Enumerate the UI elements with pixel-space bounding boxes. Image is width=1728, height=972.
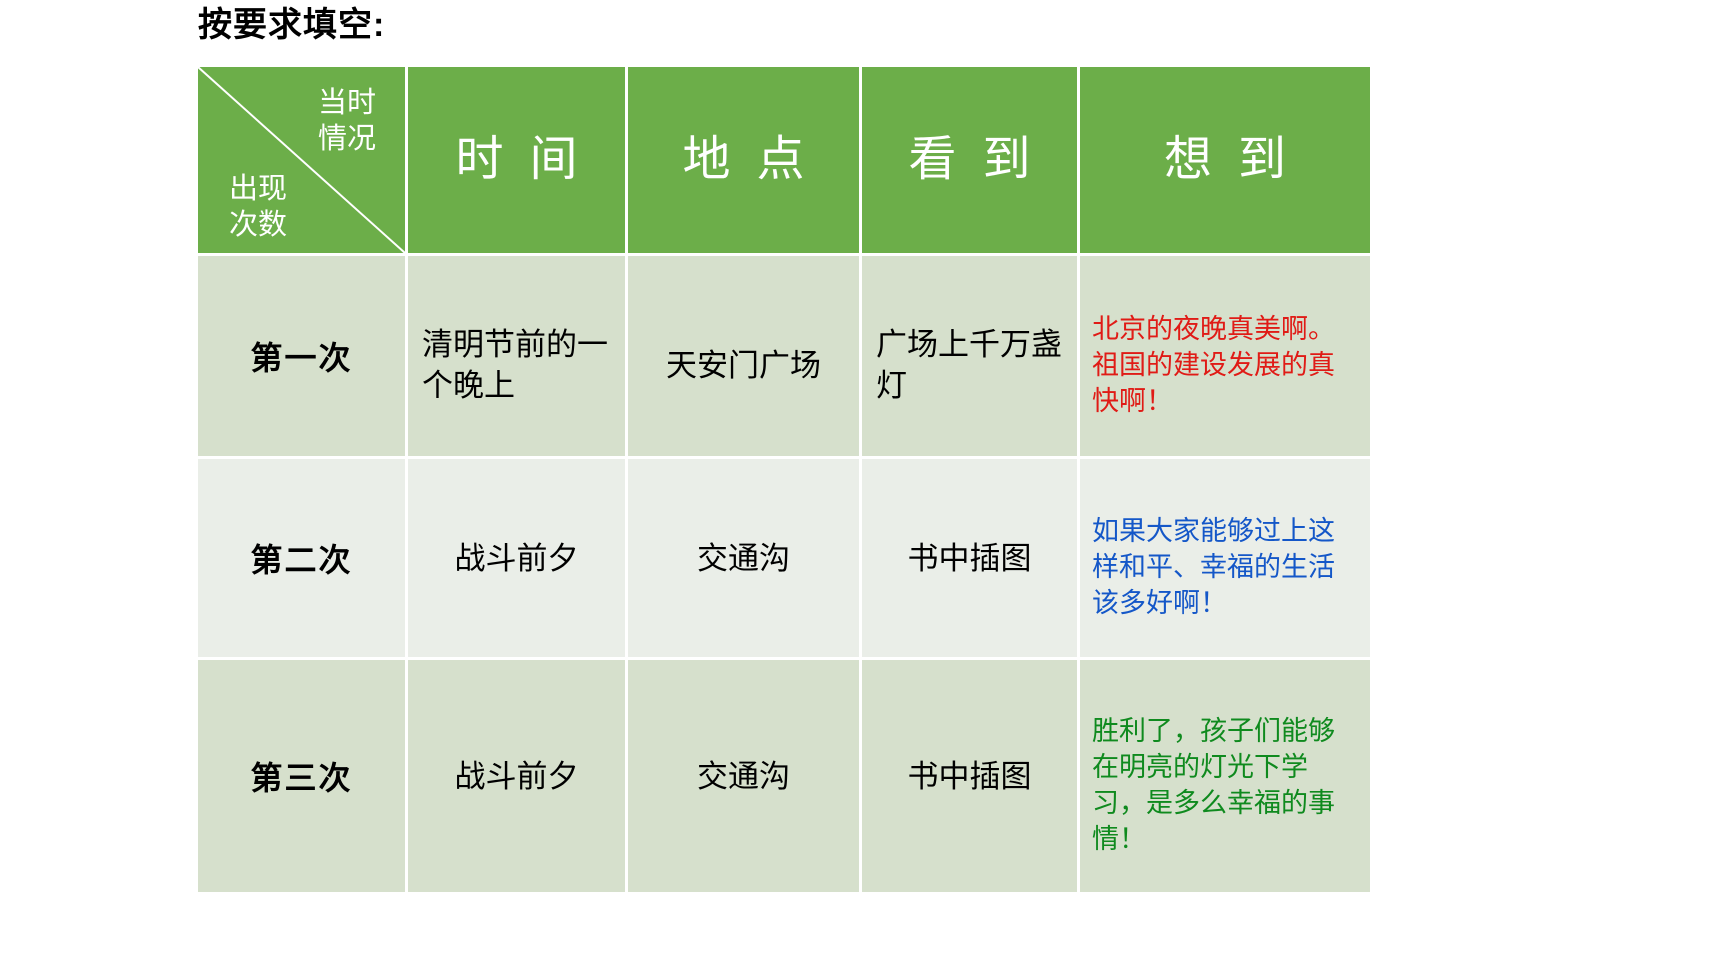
row-2-saw: 书中插图 <box>862 538 1077 579</box>
row-2-occurrence: 第二次 <box>198 459 408 660</box>
slide-canvas: 按要求填空: 当时 情况 出现 次数 <box>0 0 1728 972</box>
row-3-saw-cell: 书中插图 <box>862 660 1080 892</box>
corner-occurrence-line-2: 次数 <box>210 207 306 243</box>
row-2-time-cell: 战斗前夕 <box>408 459 628 660</box>
row-1-place-cell: 天安门广场 <box>628 256 862 459</box>
row-3-time-cell: 战斗前夕 <box>408 660 628 892</box>
header-label-thought: 想到 <box>1080 130 1370 190</box>
table-row: 第三次 战斗前夕 交通沟 书中插图 胜利了，孩子们能够在明亮的灯光下学习，是多么… <box>198 660 1370 892</box>
row-3-place: 交通沟 <box>628 756 859 797</box>
row-3-saw: 书中插图 <box>862 756 1077 797</box>
table-row: 第一次 清明节前的一个晚上 天安门广场 广场上千万盏灯 北京的夜晚真美啊。 祖国… <box>198 256 1370 459</box>
row-1-thought: 北京的夜晚真美啊。 祖国的建设发展的真快啊！ <box>1080 293 1370 419</box>
row-3-time: 战斗前夕 <box>408 756 625 797</box>
corner-occurrence-line-1: 出现 <box>210 171 306 207</box>
row-1-saw-cell: 广场上千万盏灯 <box>862 256 1080 459</box>
header-label-saw: 看到 <box>862 130 1077 190</box>
corner-label-occurrence: 出现 次数 <box>210 171 306 243</box>
header-label-place: 地点 <box>628 130 859 190</box>
row-1-saw: 广场上千万盏灯 <box>862 306 1077 406</box>
row-1-occurrence: 第一次 <box>198 256 408 459</box>
row-1-time: 清明节前的一个晚上 <box>408 306 625 406</box>
fill-in-table: 当时 情况 出现 次数 时间 地点 看到 想到 第一次 <box>198 67 1370 892</box>
row-3-occurrence: 第三次 <box>198 660 408 892</box>
header-cell-thought: 想到 <box>1080 67 1370 256</box>
header-cell-saw: 看到 <box>862 67 1080 256</box>
row-1-place: 天安门广场 <box>628 327 859 386</box>
header-label-time: 时间 <box>408 130 625 190</box>
header-corner-cell: 当时 情况 出现 次数 <box>198 67 408 256</box>
row-3-place-cell: 交通沟 <box>628 660 862 892</box>
table-row: 第二次 战斗前夕 交通沟 书中插图 如果大家能够过上这样和平、幸福的生活该多好啊… <box>198 459 1370 660</box>
row-1-thought-cell: 北京的夜晚真美啊。 祖国的建设发展的真快啊！ <box>1080 256 1370 459</box>
corner-label-situation: 当时 情况 <box>301 85 393 157</box>
row-2-saw-cell: 书中插图 <box>862 459 1080 660</box>
row-2-place-cell: 交通沟 <box>628 459 862 660</box>
corner-situation-line-2: 情况 <box>301 121 393 157</box>
corner-situation-line-1: 当时 <box>301 85 393 121</box>
row-2-time: 战斗前夕 <box>408 538 625 579</box>
row-3-thought-cell: 胜利了，孩子们能够在明亮的灯光下学习，是多么幸福的事情！ <box>1080 660 1370 892</box>
row-2-thought-cell: 如果大家能够过上这样和平、幸福的生活该多好啊！ <box>1080 459 1370 660</box>
table-header-row: 当时 情况 出现 次数 时间 地点 看到 想到 <box>198 67 1370 256</box>
row-3-thought: 胜利了，孩子们能够在明亮的灯光下学习，是多么幸福的事情！ <box>1080 695 1370 857</box>
row-1-time-cell: 清明节前的一个晚上 <box>408 256 628 459</box>
header-cell-time: 时间 <box>408 67 628 256</box>
row-2-place: 交通沟 <box>628 538 859 579</box>
row-2-thought: 如果大家能够过上这样和平、幸福的生活该多好啊！ <box>1080 495 1370 621</box>
page-title: 按要求填空: <box>198 2 385 48</box>
header-cell-place: 地点 <box>628 67 862 256</box>
